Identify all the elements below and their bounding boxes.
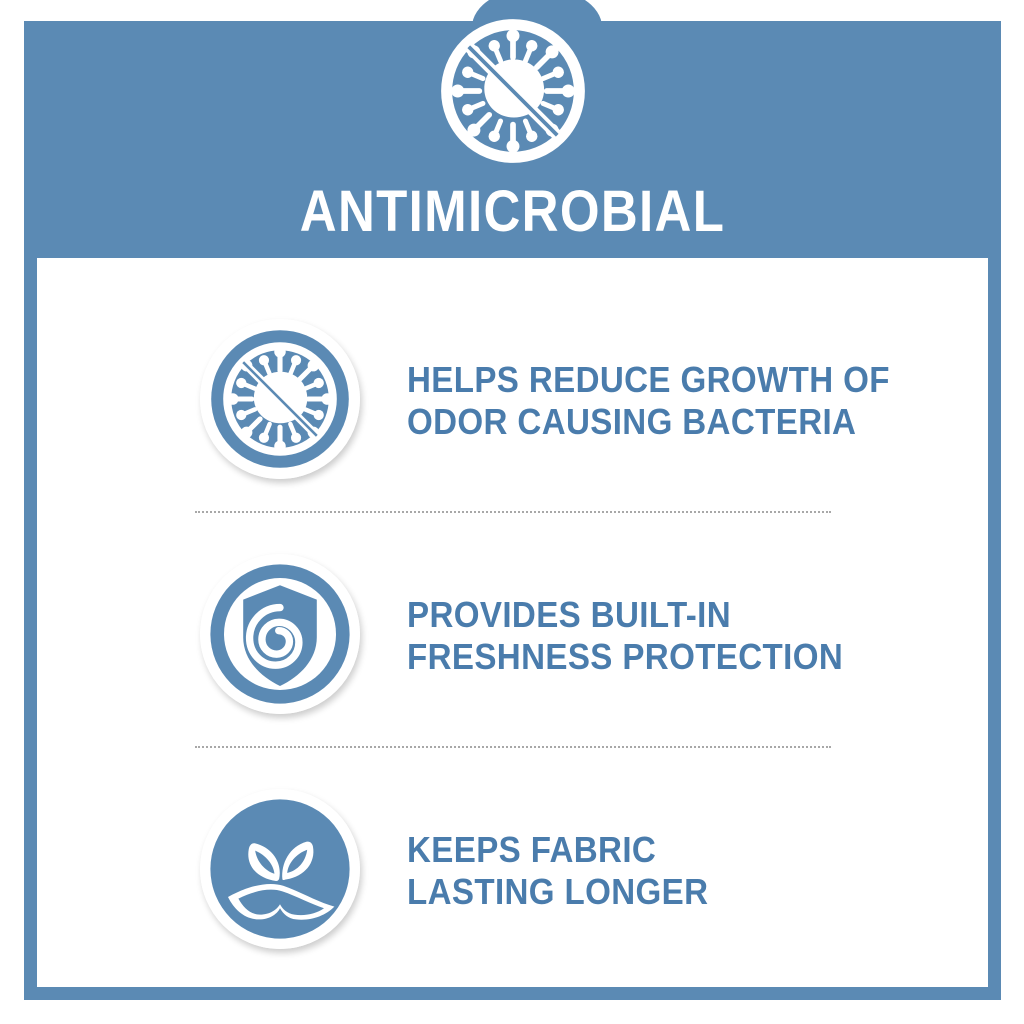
divider — [195, 511, 831, 513]
header-band: ANTIMICROBIAL — [24, 21, 1001, 258]
feature-list: HELPS REDUCE GROWTH OF ODOR CAUSING BACT… — [37, 258, 988, 987]
feature-text-line: ODOR CAUSING BACTERIA — [407, 401, 890, 443]
shield-swirl-icon — [200, 554, 360, 714]
feature-text-line: HELPS REDUCE GROWTH OF — [407, 359, 890, 401]
no-germs-icon — [200, 319, 360, 479]
feature-text-line: KEEPS FABRIC — [407, 829, 708, 871]
list-item: PROVIDES BUILT-IN FRESHNESS PROTECTION — [37, 536, 988, 736]
page-title: ANTIMICROBIAL — [83, 181, 943, 243]
infographic-canvas: ANTIMICROBIAL — [0, 0, 1024, 1024]
feature-text-line: FRESHNESS PROTECTION — [407, 636, 843, 678]
feature-text-line: LASTING LONGER — [407, 871, 708, 913]
feature-icon-wrap — [195, 784, 370, 959]
feature-icon-wrap — [195, 549, 370, 724]
feature-icon-wrap — [195, 314, 370, 489]
feature-text: KEEPS FABRIC LASTING LONGER — [407, 829, 708, 913]
feature-text: HELPS REDUCE GROWTH OF ODOR CAUSING BACT… — [407, 359, 890, 443]
no-germs-icon — [434, 12, 592, 170]
feature-text: PROVIDES BUILT-IN FRESHNESS PROTECTION — [407, 594, 843, 678]
list-item: KEEPS FABRIC LASTING LONGER — [37, 771, 988, 971]
sprout-leaf-icon — [200, 789, 360, 949]
feature-text-line: PROVIDES BUILT-IN — [407, 594, 843, 636]
list-item: HELPS REDUCE GROWTH OF ODOR CAUSING BACT… — [37, 301, 988, 501]
divider — [195, 746, 831, 748]
